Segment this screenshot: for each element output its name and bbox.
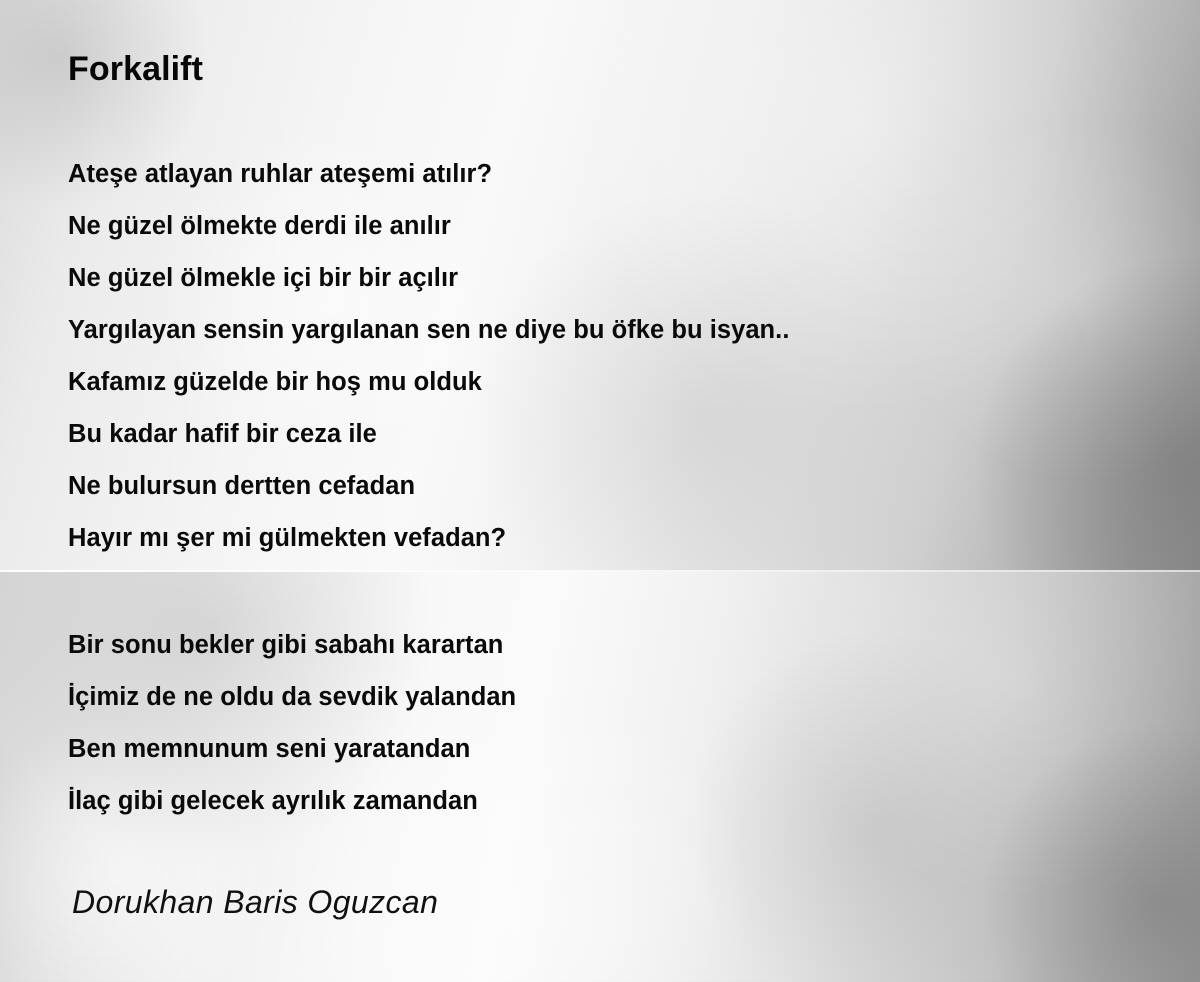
- poem-line: Bu kadar hafif bir ceza ile: [68, 420, 377, 449]
- poem-line: Ne güzel ölmekle içi bir bir açılır: [68, 264, 458, 293]
- poem-line: Ne bulursun dertten cefadan: [68, 472, 415, 501]
- poem-line: Ben memnunum seni yaratandan: [68, 735, 470, 764]
- poem-line: Bir sonu bekler gibi sabahı karartan: [68, 631, 503, 660]
- poem-line: Hayır mı şer mi gülmekten vefadan?: [68, 524, 506, 553]
- poem-title: Forkalift: [68, 50, 203, 89]
- poem-line: Ne güzel ölmekte derdi ile anılır: [68, 212, 451, 241]
- poem-line: Kafamız güzelde bir hoş mu olduk: [68, 368, 482, 397]
- poem-line: Yargılayan sensin yargılanan sen ne diye…: [68, 316, 789, 345]
- poem-author: Dorukhan Baris Oguzcan: [72, 884, 438, 921]
- poem-content: Forkalift Ateşe atlayan ruhlar ateşemi a…: [0, 0, 1200, 982]
- poem-line: Ateşe atlayan ruhlar ateşemi atılır?: [68, 160, 492, 189]
- poem-line: İlaç gibi gelecek ayrılık zamandan: [68, 787, 478, 816]
- poem-image-card: Forkalift Ateşe atlayan ruhlar ateşemi a…: [0, 0, 1200, 982]
- poem-line: İçimiz de ne oldu da sevdik yalandan: [68, 683, 516, 712]
